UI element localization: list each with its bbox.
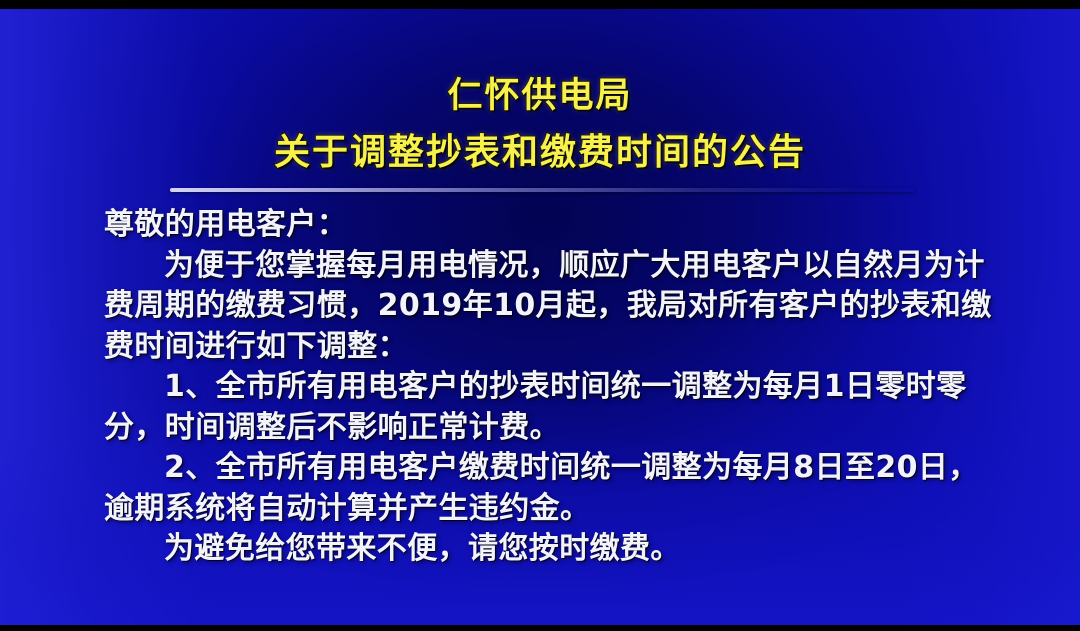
letterbox-bar-bottom	[0, 625, 1080, 631]
issuer-title: 仁怀供电局	[0, 76, 1080, 116]
clause-item-2: 2、全市所有用电客户缴费时间统一调整为每月8日至20日，逾期系统将自动计算并产生…	[104, 448, 1004, 529]
subject-title: 关于调整抄表和缴费时间的公告	[0, 132, 1080, 174]
intro-paragraph: 为便于您掌握每月用电情况，顺应广大用电客户以自然月为计费周期的缴费习惯，2019…	[104, 246, 1004, 368]
announcement-body: 尊敬的用电客户： 为便于您掌握每月用电情况，顺应广大用电客户以自然月为计费周期的…	[104, 205, 1004, 570]
title-divider-rule	[170, 188, 915, 192]
slate-content: 仁怀供电局 关于调整抄表和缴费时间的公告 尊敬的用电客户： 为便于您掌握每月用电…	[0, 0, 1080, 631]
announcement-slate: 仁怀供电局 关于调整抄表和缴费时间的公告 尊敬的用电客户： 为便于您掌握每月用电…	[0, 0, 1080, 631]
salutation-line: 尊敬的用电客户：	[104, 205, 1004, 246]
clause-item-1: 1、全市所有用电客户的抄表时间统一调整为每月1日零时零分，时间调整后不影响正常计…	[104, 367, 1004, 448]
letterbox-bar-top	[0, 0, 1080, 9]
closing-paragraph: 为避免给您带来不便，请您按时缴费。	[104, 529, 1004, 570]
